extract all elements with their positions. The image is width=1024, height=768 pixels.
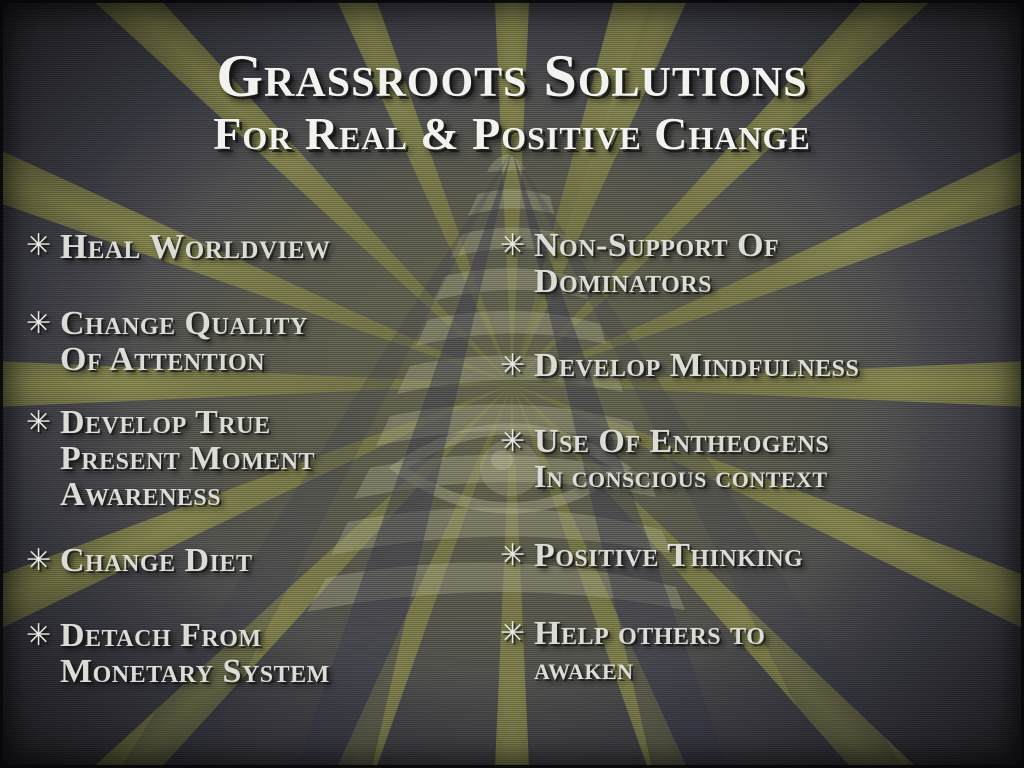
list-item-line: Help others to bbox=[534, 616, 765, 652]
list-item-label: Non-Support Of Dominators bbox=[534, 228, 779, 300]
eight-pointed-star-icon: ✳ bbox=[26, 408, 60, 438]
eight-pointed-star-icon: ✳ bbox=[500, 427, 534, 457]
list-item-line: Develop True bbox=[60, 405, 315, 441]
list-item-label: Positive Thinking bbox=[534, 538, 803, 574]
list-item[interactable]: ✳ Develop Mindfulness bbox=[500, 348, 859, 384]
list-item-line: Change Diet bbox=[60, 543, 252, 579]
list-item[interactable]: ✳ Develop True Present Moment Awareness bbox=[26, 405, 315, 513]
list-item-line: Positive Thinking bbox=[534, 538, 803, 574]
list-item-label: Change Diet bbox=[60, 543, 252, 579]
list-item-line: Of Attention bbox=[60, 342, 308, 378]
list-item[interactable]: ✳ Detach From Monetary System bbox=[26, 618, 330, 690]
list-item[interactable]: ✳ Change Quality Of Attention bbox=[26, 306, 308, 378]
slide-content: Grassroots Solutions For Real & Positive… bbox=[0, 0, 1024, 768]
list-item-line: Non-Support Of bbox=[534, 228, 779, 264]
list-item-label: Use Of Entheogens In conscious context bbox=[534, 424, 829, 494]
list-item-line: Change Quality bbox=[60, 306, 308, 342]
eight-pointed-star-icon: ✳ bbox=[500, 619, 534, 649]
eight-pointed-star-icon: ✳ bbox=[26, 546, 60, 576]
list-item[interactable]: ✳ Heal Worldview bbox=[26, 228, 330, 265]
list-item-label: Heal Worldview bbox=[60, 228, 330, 265]
eight-pointed-star-icon: ✳ bbox=[26, 231, 60, 261]
list-item[interactable]: ✳ Use Of Entheogens In conscious context bbox=[500, 424, 829, 494]
list-item-line: Heal Worldview bbox=[60, 228, 330, 265]
eight-pointed-star-icon: ✳ bbox=[26, 309, 60, 339]
eight-pointed-star-icon: ✳ bbox=[500, 541, 534, 571]
list-item-label: Detach From Monetary System bbox=[60, 618, 330, 690]
list-item-label: Help others to awaken bbox=[534, 616, 765, 686]
list-item-line: Dominators bbox=[534, 264, 779, 300]
presentation-slide: Grassroots Solutions For Real & Positive… bbox=[0, 0, 1024, 768]
list-item-line: Use Of Entheogens bbox=[534, 424, 829, 460]
list-item[interactable]: ✳ Non-Support Of Dominators bbox=[500, 228, 779, 300]
eight-pointed-star-icon: ✳ bbox=[26, 621, 60, 651]
list-item-label: Develop Mindfulness bbox=[534, 348, 859, 384]
slide-subtitle: For Real & Positive Change bbox=[0, 111, 1024, 158]
list-item-line: Monetary System bbox=[60, 654, 330, 690]
list-item-label: Change Quality Of Attention bbox=[60, 306, 308, 378]
list-item[interactable]: ✳ Positive Thinking bbox=[500, 538, 803, 574]
list-item-line: Present Moment bbox=[60, 441, 315, 477]
list-item-label: Develop True Present Moment Awareness bbox=[60, 405, 315, 513]
list-item-line: awaken bbox=[534, 652, 765, 686]
list-item-line: Detach From bbox=[60, 618, 330, 654]
eight-pointed-star-icon: ✳ bbox=[500, 351, 534, 381]
list-item[interactable]: ✳ Change Diet bbox=[26, 543, 252, 579]
list-item-line: Develop Mindfulness bbox=[534, 348, 859, 384]
title-block: Grassroots Solutions For Real & Positive… bbox=[0, 46, 1024, 158]
eight-pointed-star-icon: ✳ bbox=[500, 231, 534, 261]
list-item-line: In conscious context bbox=[534, 460, 829, 494]
list-item-line: Awareness bbox=[60, 477, 315, 513]
list-item[interactable]: ✳ Help others to awaken bbox=[500, 616, 765, 686]
slide-title: Grassroots Solutions bbox=[0, 46, 1024, 107]
